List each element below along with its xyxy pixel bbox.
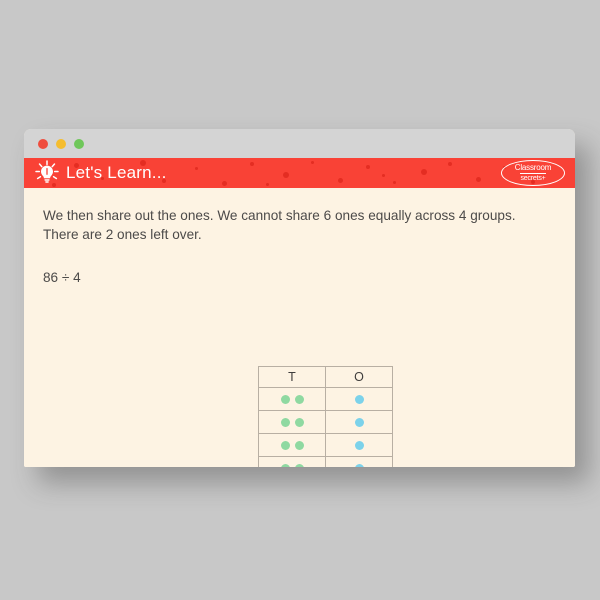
table-row (259, 411, 393, 434)
lightbulb-icon (33, 159, 61, 187)
counter-tens (295, 418, 304, 427)
table-row (259, 457, 393, 468)
table-body (259, 388, 393, 468)
minimize-button[interactable] (56, 139, 66, 149)
column-header-tens: T (259, 367, 326, 388)
column-header-ones: O (326, 367, 393, 388)
place-value-table: T O (258, 366, 393, 467)
table-row (259, 388, 393, 411)
cell-tens (259, 457, 326, 468)
cell-tens (259, 434, 326, 457)
counter-tens (281, 395, 290, 404)
counter-group-tens (259, 388, 325, 410)
counter-tens (295, 395, 304, 404)
counter-tens (281, 418, 290, 427)
counter-group-tens (259, 434, 325, 456)
calculation-text: 86 ÷ 4 (43, 270, 549, 285)
maximize-button[interactable] (74, 139, 84, 149)
banner-title: Let's Learn... (66, 163, 167, 183)
table-header-row: T O (259, 367, 393, 388)
counter-ones (355, 464, 364, 468)
table-row (259, 434, 393, 457)
counter-ones (355, 395, 364, 404)
classroom-secrets-logo: Classroom secrets+ (501, 160, 565, 186)
counter-group-ones (326, 388, 392, 410)
counter-tens (295, 441, 304, 450)
slide-content: We then share out the ones. We cannot sh… (24, 188, 575, 467)
counter-tens (295, 464, 304, 468)
place-value-chart: T O (258, 366, 393, 467)
lets-learn-banner: Let's Learn... Classroom secrets+ (24, 158, 575, 188)
counter-ones (355, 441, 364, 450)
counter-tens (281, 441, 290, 450)
cell-ones (326, 434, 393, 457)
cell-tens (259, 388, 326, 411)
cell-ones (326, 457, 393, 468)
counter-tens (281, 464, 290, 468)
counter-group-tens (259, 457, 325, 467)
counter-group-ones (326, 434, 392, 456)
close-button[interactable] (38, 139, 48, 149)
logo-line-2: secrets+ (520, 173, 545, 182)
counter-group-tens (259, 411, 325, 433)
counter-ones (355, 418, 364, 427)
window-titlebar (24, 129, 575, 158)
counter-group-ones (326, 457, 392, 467)
explanation-text: We then share out the ones. We cannot sh… (43, 206, 543, 244)
cell-ones (326, 388, 393, 411)
cell-tens (259, 411, 326, 434)
slide-window: Let's Learn... Classroom secrets+ We the… (24, 129, 575, 467)
counter-group-ones (326, 411, 392, 433)
logo-line-1: Classroom (515, 164, 551, 172)
cell-ones (326, 411, 393, 434)
